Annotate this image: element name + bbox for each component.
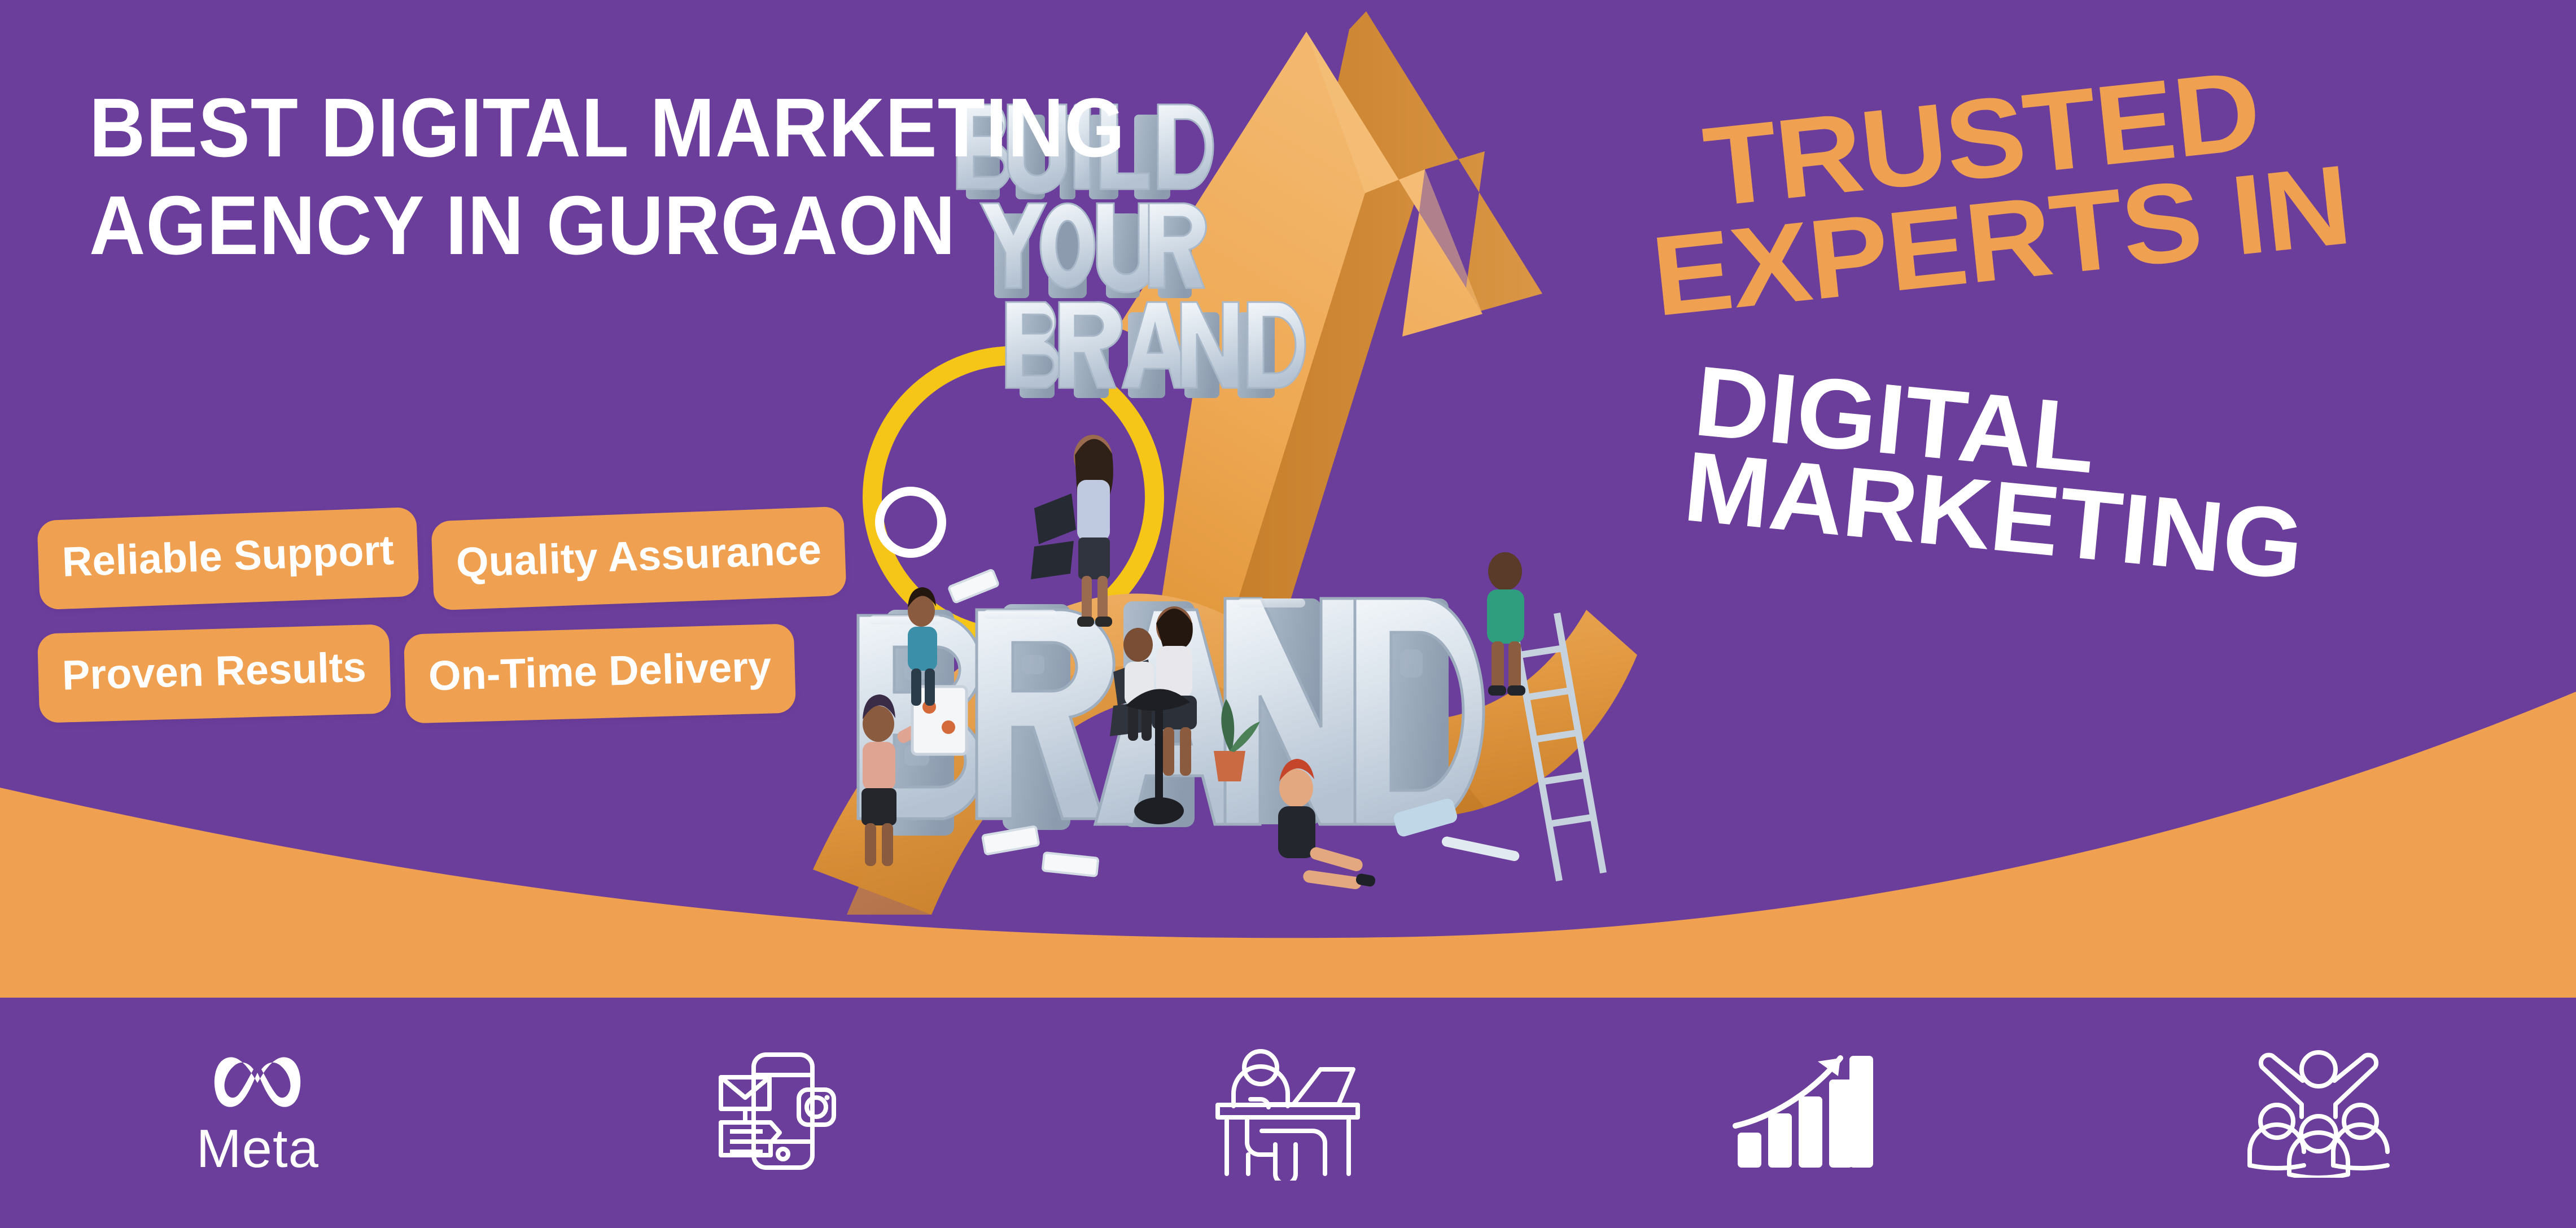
feature-pill-label: Quality Assurance bbox=[456, 528, 822, 584]
feature-pill-label: Reliable Support bbox=[62, 529, 395, 583]
meta-infinity-icon bbox=[209, 1046, 305, 1113]
person-working-laptop-desk-icon bbox=[1209, 1045, 1367, 1181]
white-circle-ring bbox=[880, 491, 942, 553]
feature-pill-proven-results[interactable]: Proven Results bbox=[37, 624, 391, 723]
icon-cell-social-media[interactable] bbox=[515, 998, 1031, 1228]
feature-pill-group: Reliable Support Quality Assurance Prove… bbox=[33, 514, 845, 718]
headline-line-1: Best Digital Marketing bbox=[89, 81, 1125, 174]
icon-cell-proven-growth[interactable] bbox=[1546, 998, 2061, 1228]
team-leader-group-icon bbox=[2240, 1048, 2398, 1178]
icon-cell-happy-clients[interactable] bbox=[2061, 998, 2576, 1228]
person-laptop-1 bbox=[1031, 435, 1113, 627]
icon-cell-expert-team[interactable] bbox=[1030, 998, 1546, 1228]
growth-bar-chart-arrow-icon bbox=[1730, 1047, 1877, 1179]
social-media-phone-icon bbox=[699, 1042, 846, 1183]
service-icon-bar: Meta bbox=[0, 998, 2576, 1228]
feature-pill-label: Proven Results bbox=[62, 646, 367, 696]
feature-pill-row-1: Reliable Support Quality Assurance bbox=[33, 514, 845, 603]
feature-pill-label: On-Time Delivery bbox=[428, 646, 772, 697]
feature-pill-reliable-support[interactable]: Reliable Support bbox=[37, 507, 419, 610]
icon-cell-meta[interactable]: Meta bbox=[0, 998, 515, 1228]
meta-wordmark: Meta bbox=[196, 1118, 319, 1180]
headline-line-2: Agency in Gurgaon bbox=[89, 177, 1297, 274]
marketing-banner: Best Digital Marketing Agency in Gurgaon bbox=[0, 0, 2576, 1228]
feature-pill-on-time-delivery[interactable]: On-Time Delivery bbox=[404, 623, 796, 723]
trusted-experts-headline: Trusted Experts in Digital Marketing bbox=[1705, 119, 2365, 492]
text-3d-brand-small bbox=[1006, 302, 1305, 398]
feature-pill-row-2: Proven Results On-Time Delivery bbox=[33, 603, 845, 718]
page-title: Best Digital Marketing Agency in Gurgaon bbox=[89, 79, 1297, 274]
person-green-shirt bbox=[1487, 552, 1525, 696]
feature-pill-quality-assurance[interactable]: Quality Assurance bbox=[431, 506, 846, 611]
